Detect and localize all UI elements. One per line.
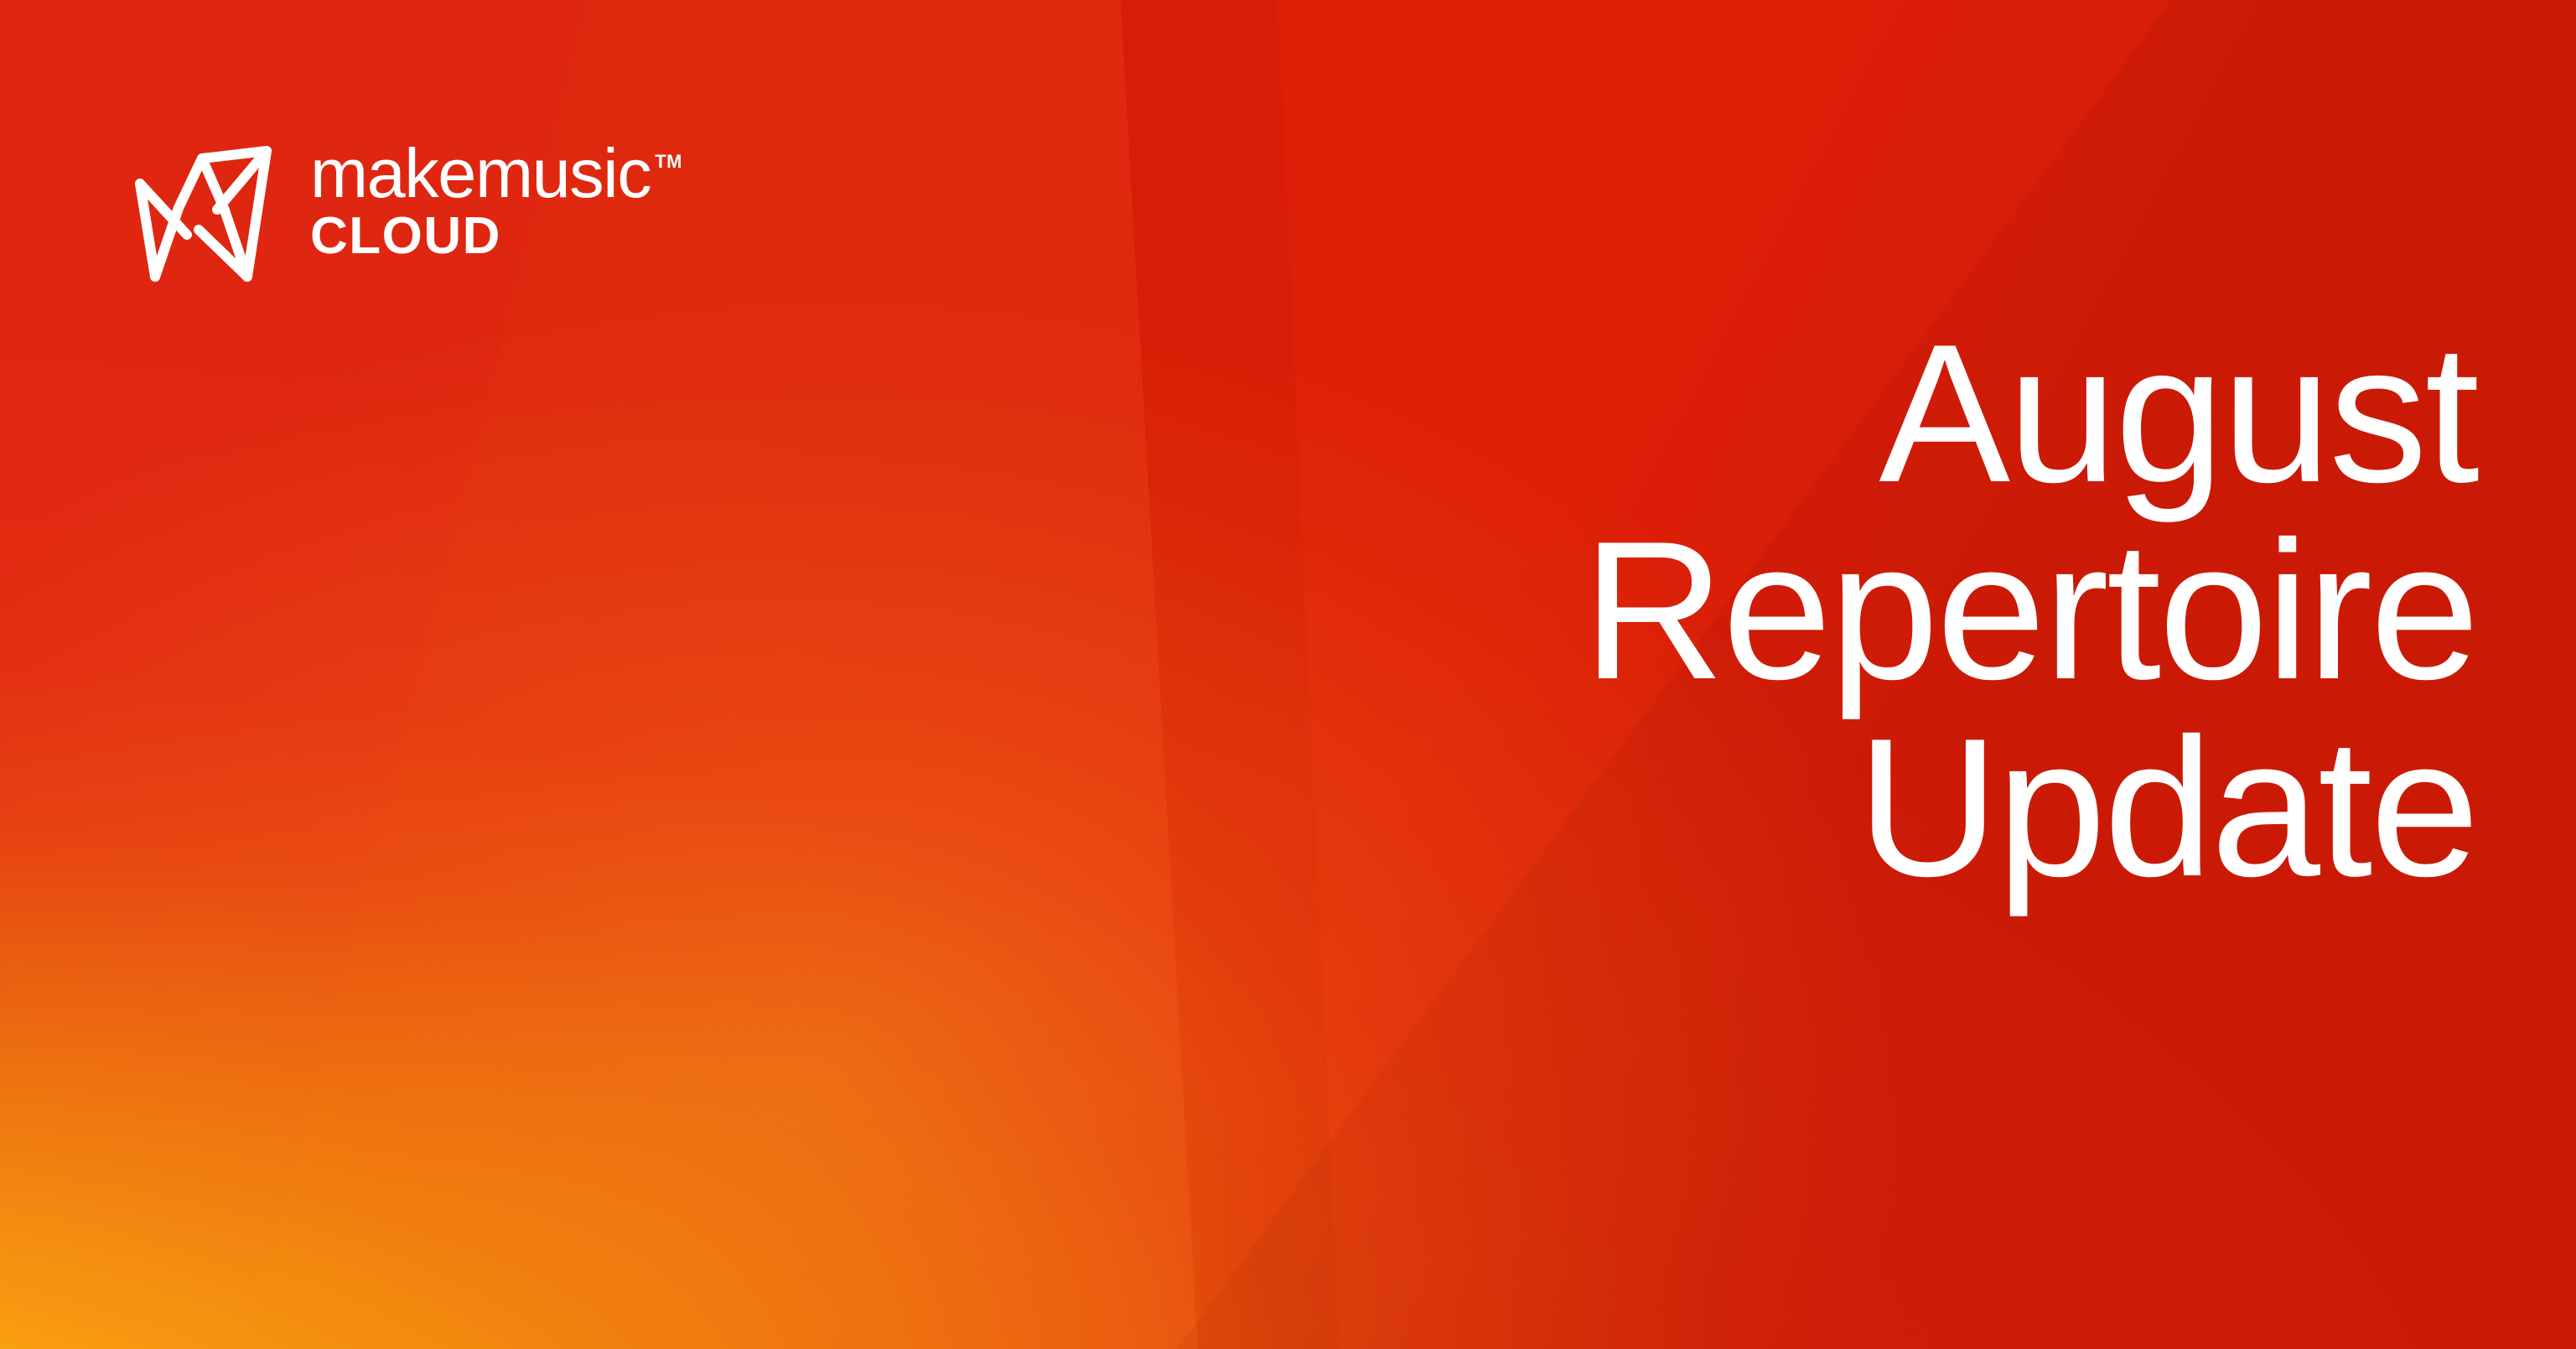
- trademark-symbol: TM: [655, 153, 682, 171]
- brand-lockup: makemusic TM CLOUD: [130, 134, 682, 295]
- title-line-2: Repertoire: [801, 511, 2477, 708]
- brand-wordmark-block: makemusic TM CLOUD: [310, 134, 682, 262]
- makemusic-logo-icon: [130, 136, 277, 295]
- title-line-3: Update: [801, 708, 2477, 905]
- title-line-1: August: [801, 314, 2477, 511]
- brand-wordmark: makemusic: [310, 141, 650, 205]
- banner-graphic: makemusic TM CLOUD August Repertoire Upd…: [0, 0, 2576, 1349]
- wordmark-row: makemusic TM: [310, 141, 682, 205]
- page-title: August Repertoire Update: [801, 314, 2477, 905]
- product-name: CLOUD: [310, 210, 682, 262]
